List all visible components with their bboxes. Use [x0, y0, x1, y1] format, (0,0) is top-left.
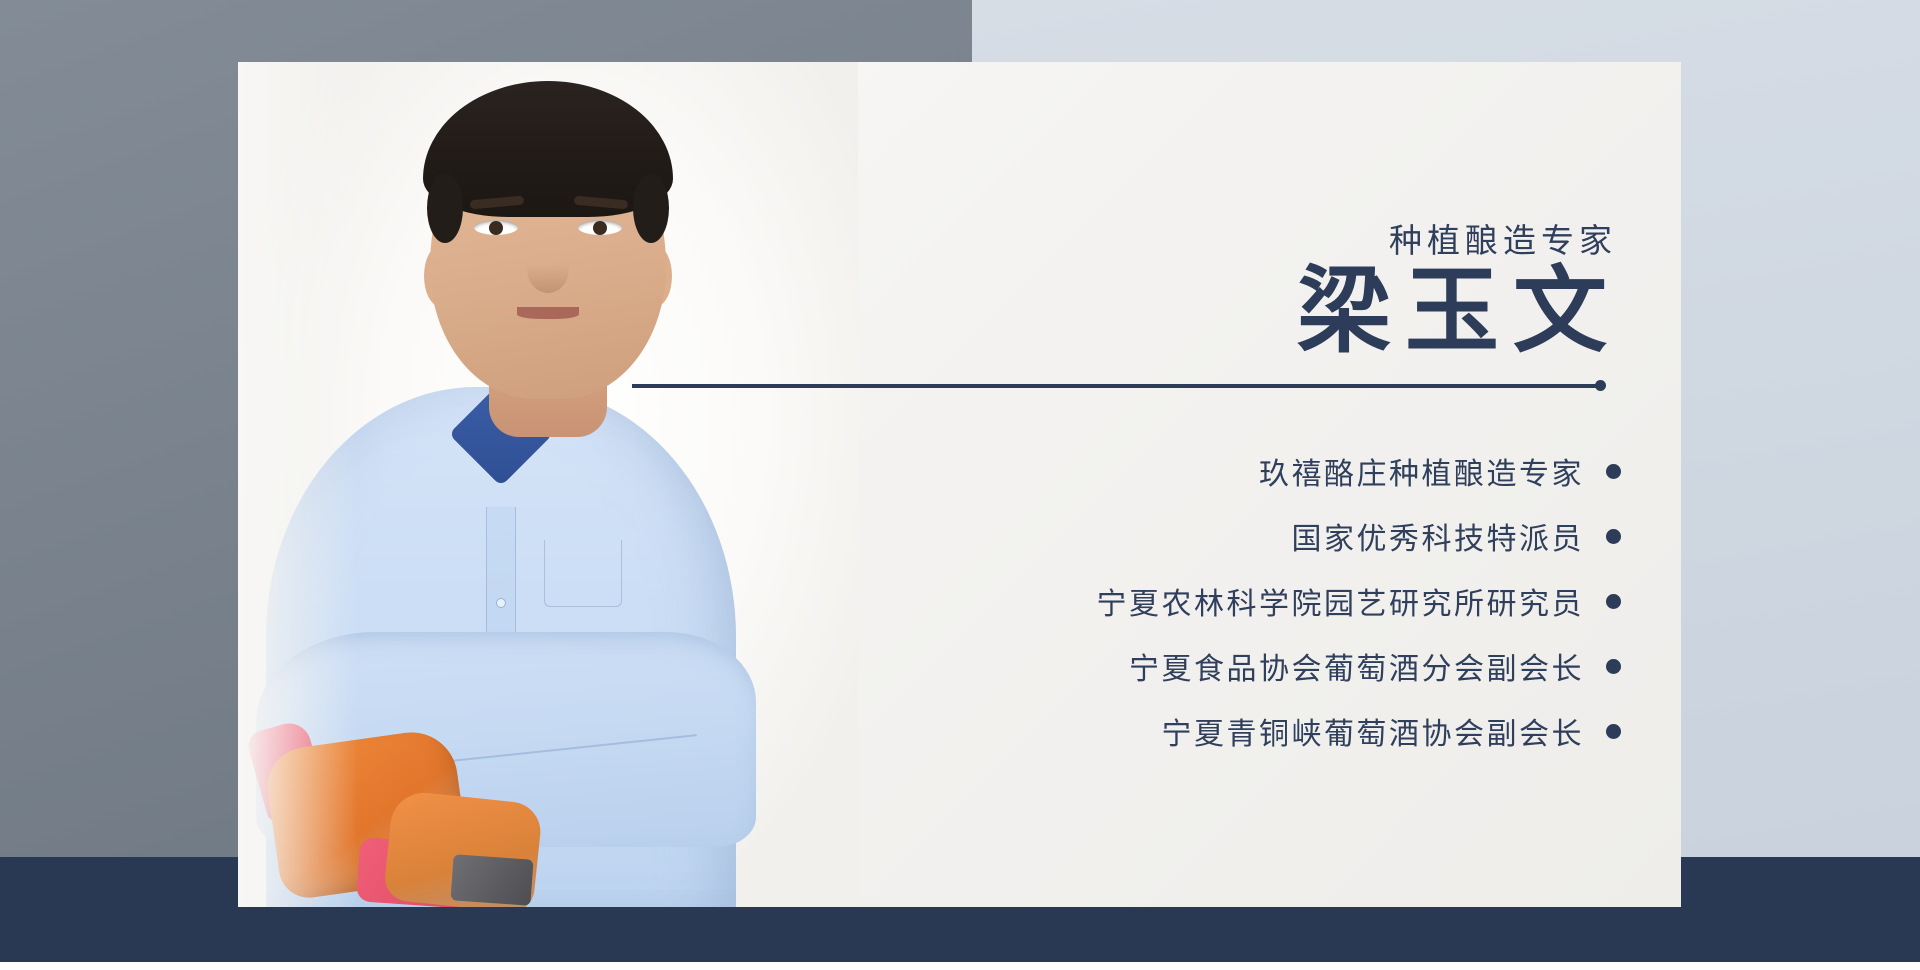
- bullet-dot-icon: [1606, 594, 1621, 609]
- portrait-eye-right: [578, 220, 622, 235]
- credential-item: 国家优秀科技特派员: [721, 509, 1621, 563]
- bullet-dot-icon: [1606, 724, 1621, 739]
- credential-label: 宁夏食品协会葡萄酒分会副会长: [1129, 644, 1584, 688]
- role-title: 种植酿造专家: [1389, 214, 1617, 262]
- credential-item: 宁夏青铜峡葡萄酒协会副会长: [721, 704, 1621, 758]
- portrait-shirt-pocket: [544, 540, 622, 607]
- portrait-edge-fade: [238, 62, 358, 907]
- expert-name: 梁玉文: [1297, 260, 1621, 365]
- bullet-dot-icon: [1606, 529, 1621, 544]
- portrait-nose: [527, 245, 569, 293]
- bullet-dot-icon: [1606, 464, 1621, 479]
- background-strip-white: [0, 962, 1920, 970]
- credential-label: 玖禧酪庄种植酿造专家: [1259, 449, 1584, 493]
- portrait-shirt-button: [497, 599, 505, 607]
- credentials-list: 玖禧酪庄种植酿造专家 国家优秀科技特派员 宁夏农林科学院园艺研究所研究员 宁夏食…: [721, 444, 1621, 769]
- profile-card: 种植酿造专家 梁玉文 玖禧酪庄种植酿造专家 国家优秀科技特派员 宁夏农林科学院园…: [238, 62, 1681, 907]
- divider-end-dot-icon: [1595, 380, 1606, 391]
- divider-line: [632, 384, 1602, 388]
- credential-label: 国家优秀科技特派员: [1292, 514, 1585, 558]
- portrait-tool-grip: [450, 854, 533, 905]
- credential-item: 宁夏农林科学院园艺研究所研究员: [721, 574, 1621, 628]
- credential-item: 宁夏食品协会葡萄酒分会副会长: [721, 639, 1621, 693]
- portrait-mouth: [517, 307, 579, 319]
- credential-label: 宁夏农林科学院园艺研究所研究员: [1097, 579, 1585, 623]
- credential-item: 玖禧酪庄种植酿造专家: [721, 444, 1621, 498]
- profile-banner: 种植酿造专家 梁玉文 玖禧酪庄种植酿造专家 国家优秀科技特派员 宁夏农林科学院园…: [0, 0, 1920, 970]
- bullet-dot-icon: [1606, 659, 1621, 674]
- credential-label: 宁夏青铜峡葡萄酒协会副会长: [1162, 709, 1585, 753]
- portrait-eye-left: [474, 220, 518, 235]
